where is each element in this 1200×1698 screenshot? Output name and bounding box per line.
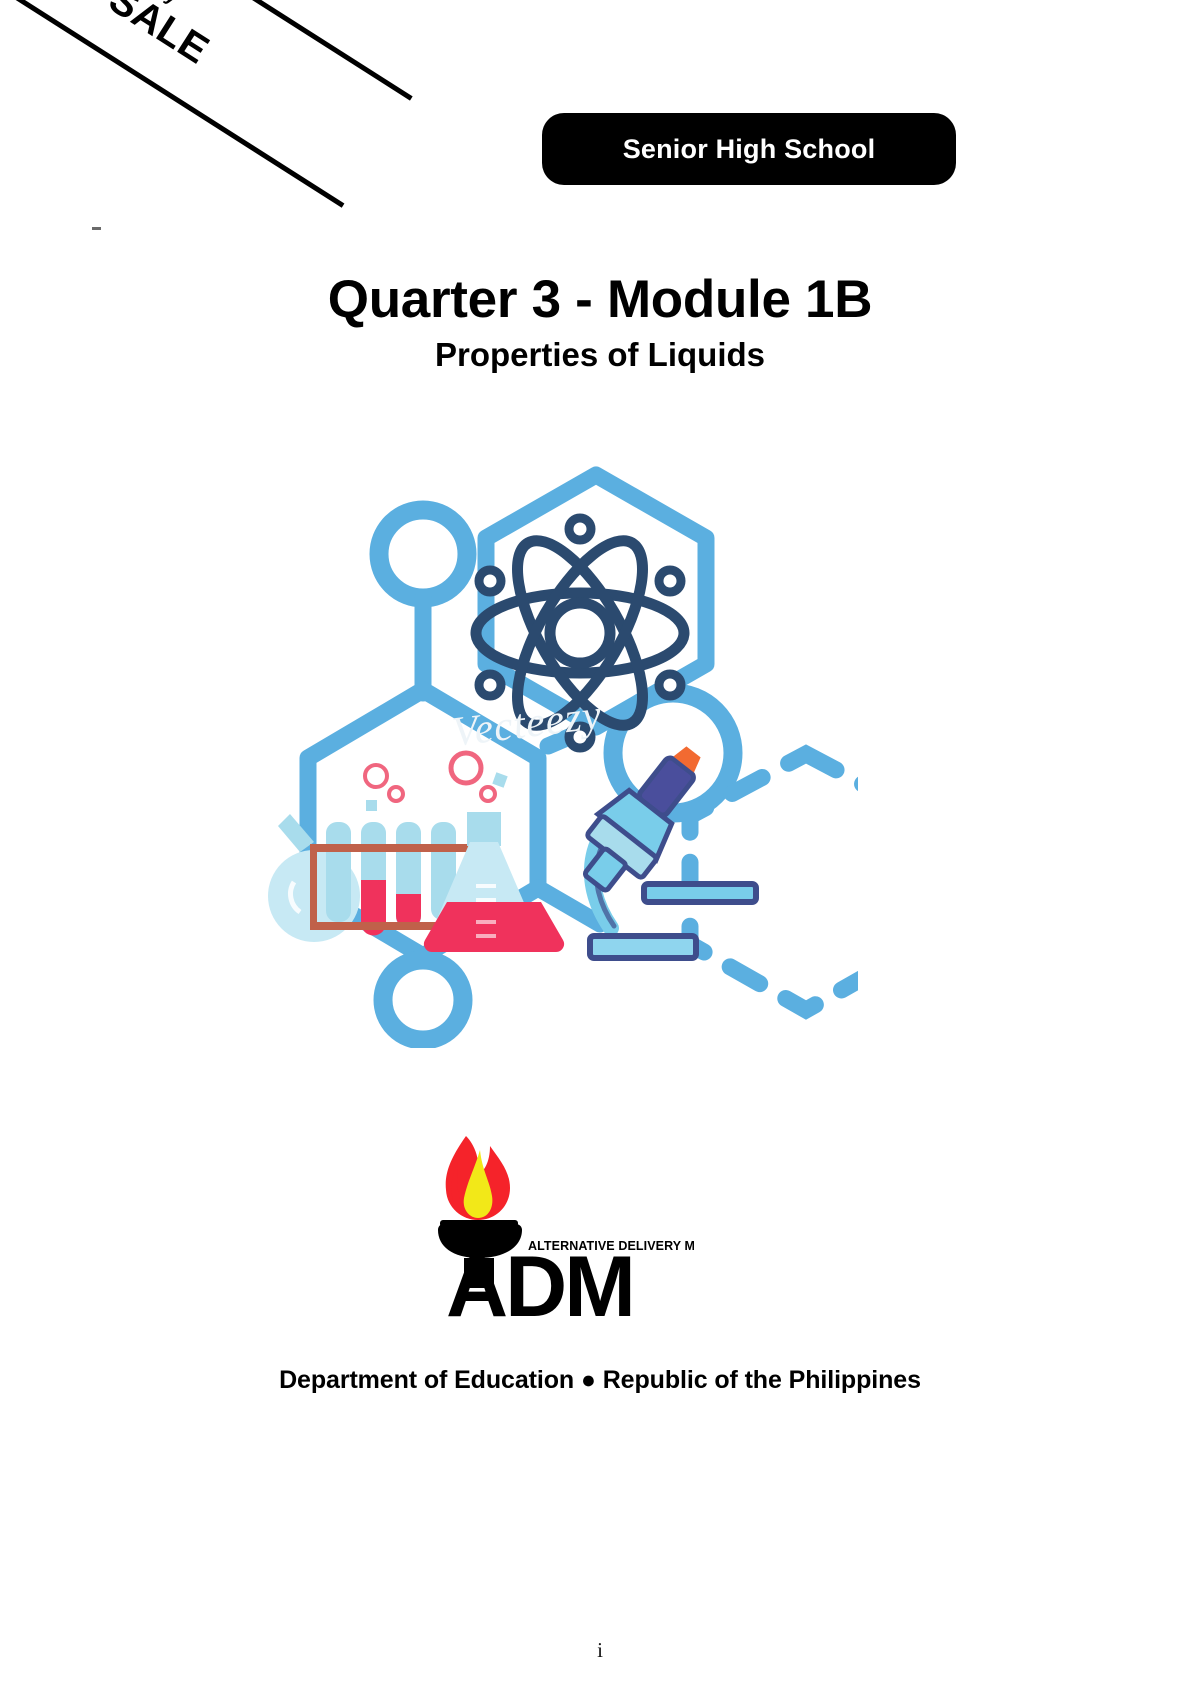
government-property-banner: Government Property NOT FOR SALE bbox=[0, 0, 413, 208]
torch-flame-icon bbox=[446, 1136, 510, 1220]
science-illustration-svg bbox=[248, 428, 858, 1048]
adm-logo-svg: ALTERNATIVE DELIVERY MODE ADM bbox=[424, 1128, 694, 1318]
page-subtitle: Properties of Liquids bbox=[0, 337, 1200, 373]
senior-high-school-badge: Senior High School bbox=[542, 113, 956, 185]
adm-wordmark: ADM bbox=[446, 1239, 633, 1318]
page-title: Quarter 3 - Module 1B bbox=[0, 272, 1200, 328]
bubbles bbox=[365, 753, 508, 811]
hexagon-node-top-left bbox=[379, 510, 467, 693]
test-tubes bbox=[326, 822, 456, 936]
senior-high-school-label: Senior High School bbox=[623, 134, 876, 165]
title-block: Quarter 3 - Module 1B Properties of Liqu… bbox=[0, 272, 1200, 373]
banner-line-not-for-sale: NOT FOR SALE bbox=[0, 0, 215, 71]
stray-scan-mark bbox=[92, 227, 101, 230]
science-illustration bbox=[248, 428, 858, 1048]
hexagon-node-bottom bbox=[383, 956, 463, 1040]
page-number: i bbox=[0, 1638, 1200, 1663]
footer-department-line: Department of Education ● Republic of th… bbox=[0, 1366, 1200, 1395]
adm-logo: ALTERNATIVE DELIVERY MODE ADM bbox=[424, 1128, 694, 1318]
